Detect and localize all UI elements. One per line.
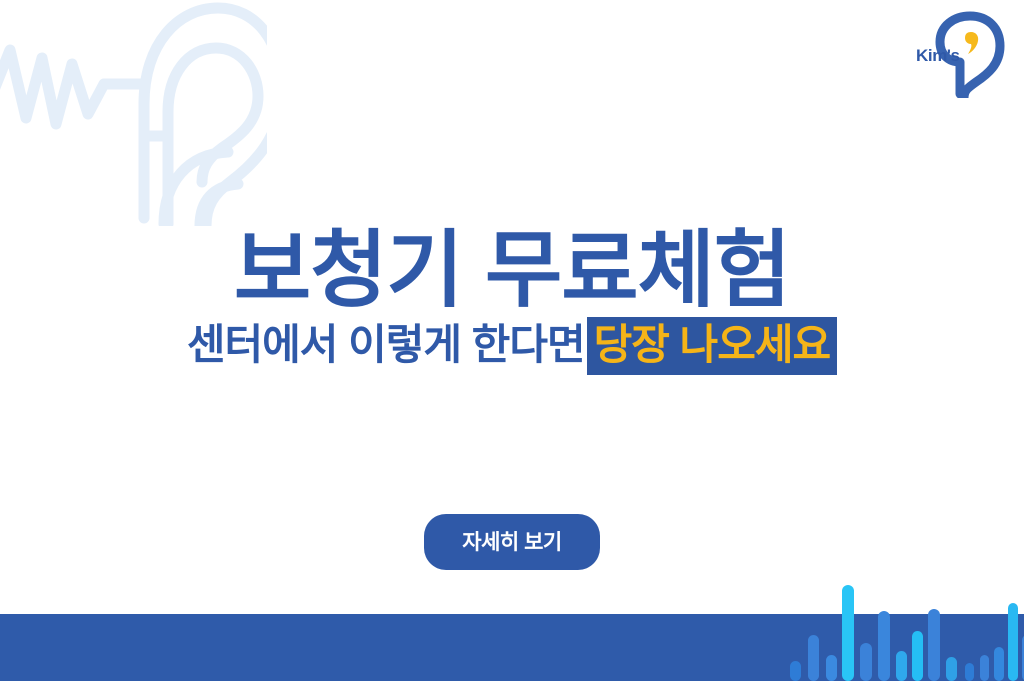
subtitle-highlight-text: 당장 나오세요 — [587, 317, 838, 375]
subtitle-plain-text: 센터에서 이렇게 한다면 — [187, 321, 585, 368]
view-details-button[interactable]: 자세히 보기 — [424, 514, 599, 570]
page-title: 보청기 무료체험 — [0, 228, 1024, 312]
ear-outline-watermark-icon — [0, 0, 267, 226]
brand-logo-wordmark: Kim's — [916, 46, 960, 66]
footer-band — [0, 614, 1024, 681]
headline-block: 보청기 무료체험 센터에서 이렇게 한다면당장 나오세요 — [0, 228, 1024, 366]
brand-logo[interactable]: Kim's — [914, 10, 1006, 98]
page-subtitle: 센터에서 이렇게 한다면당장 나오세요 — [0, 324, 1024, 366]
cta-container: 자세히 보기 — [0, 514, 1024, 570]
promo-banner: Kim's 보청기 무료체험 센터에서 이렇게 한다면당장 나오세요 자세히 보… — [0, 0, 1024, 681]
yellow-apostrophe-icon — [965, 32, 978, 54]
